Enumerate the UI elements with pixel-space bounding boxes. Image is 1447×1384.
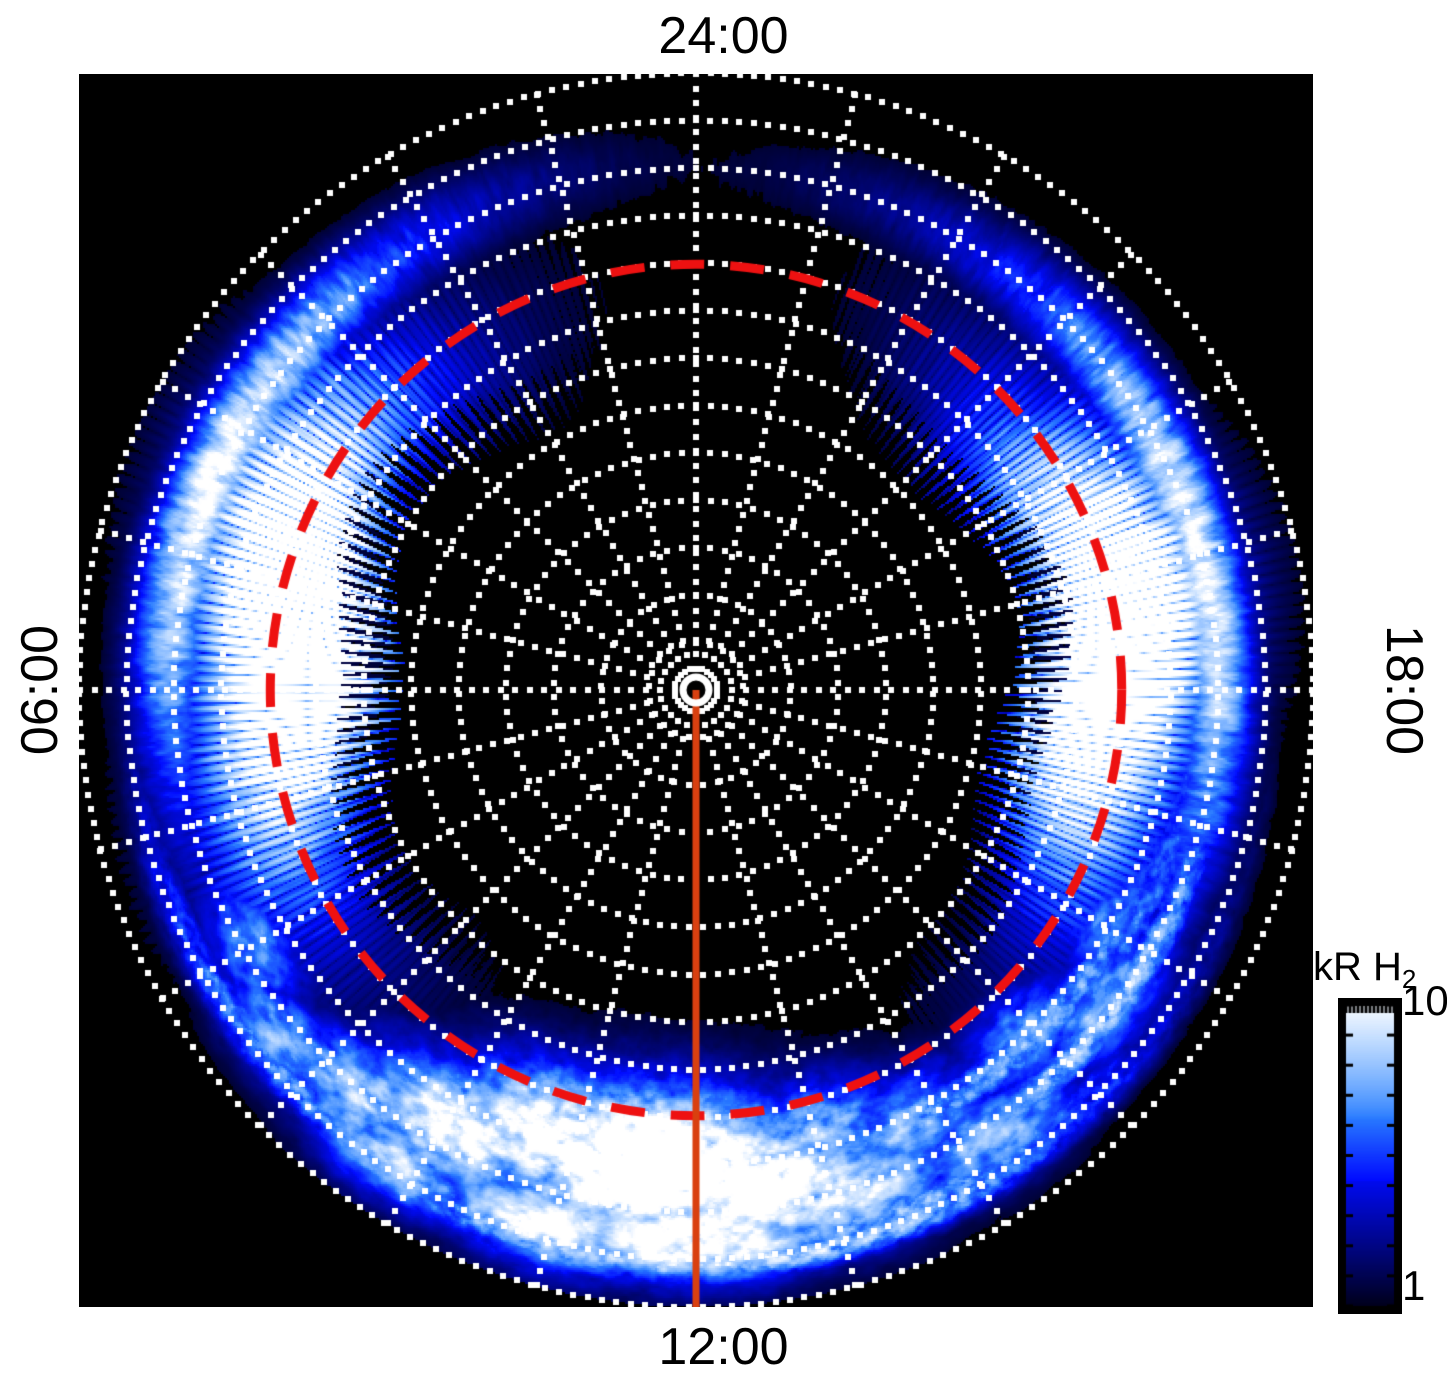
- axis-label-top-24h: 24:00: [0, 6, 1447, 66]
- axis-label-right-18h: 18:00: [1374, 625, 1434, 755]
- colorbar-title: kR H2: [1313, 945, 1416, 990]
- colorbar-min-tick-label: 1: [1402, 1262, 1425, 1310]
- colorbar-max-tick-label: 10: [1402, 977, 1447, 1025]
- polar-aurora-figure: 24:00 12:00 06:00 18:00 kR H2 10 1: [0, 0, 1447, 1384]
- colorbar[interactable]: [1338, 998, 1396, 1308]
- colorbar-title-text: kR H: [1313, 945, 1402, 989]
- colorbar-gradient[interactable]: [1338, 998, 1402, 1314]
- axis-label-left-06h: 06:00: [10, 625, 70, 755]
- axis-label-bottom-12h: 12:00: [0, 1317, 1447, 1377]
- polar-heatmap-canvas[interactable]: [79, 74, 1313, 1307]
- polar-plot-area[interactable]: [79, 74, 1313, 1307]
